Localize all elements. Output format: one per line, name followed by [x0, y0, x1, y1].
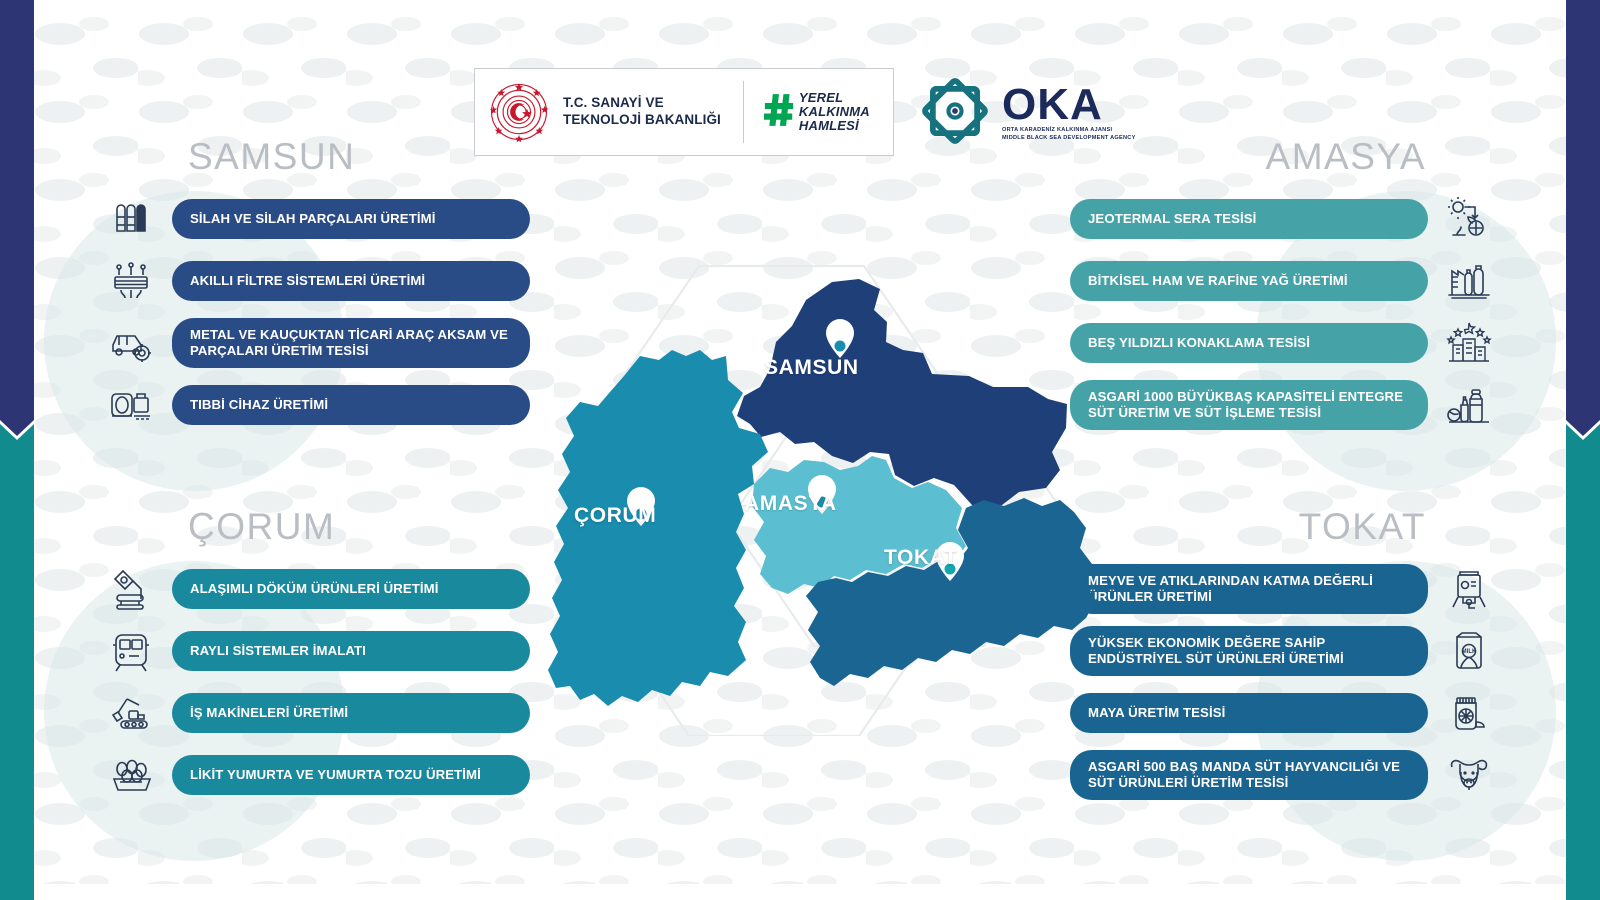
map-region-samsun	[737, 279, 1067, 505]
list-item[interactable]: RAYLI SİSTEMLER İMALATI	[100, 625, 530, 677]
column-amasya: AMASYA JEOTERMAL SER	[1070, 138, 1500, 431]
list-item[interactable]: TIBBİ CİHAZ ÜRETİMİ	[100, 379, 530, 431]
list-item[interactable]: MILK YÜKSEK EKONOMİK DEĞERE SAHİP ENDÜST…	[1070, 625, 1500, 677]
oil-refinery-icon	[1438, 255, 1500, 307]
item-label: SİLAH VE SİLAH PARÇALARI ÜRETİMİ	[172, 199, 530, 239]
milk-bag-icon: MILK	[1438, 625, 1500, 677]
left-edge-decoration	[0, 0, 34, 900]
column-corum: ÇORUM ALAŞIMLI DÖKÜM ÜRÜNLERİ ÜRETİ	[100, 508, 530, 801]
list-item[interactable]: BİTKİSEL HAM VE RAFİNE YAĞ ÜRETİMİ	[1070, 255, 1500, 307]
list-item[interactable]: BEŞ YILDIZLI KONAKLAMA TESİSİ	[1070, 317, 1500, 369]
list-item[interactable]: MEYVE VE ATIKLARINDAN KATMA DEĞERLİ ÜRÜN…	[1070, 563, 1500, 615]
item-label: LİKİT YUMURTA VE YUMURTA TOZU ÜRETİMİ	[172, 755, 530, 795]
list-item[interactable]: SİLAH VE SİLAH PARÇALARI ÜRETİMİ	[100, 193, 530, 245]
list-item[interactable]: ASGARİ 1000 BÜYÜKBAŞ KAPASİTELİ ENTEGRE …	[1070, 379, 1500, 431]
geothermal-greenhouse-icon	[1438, 193, 1500, 245]
list-item[interactable]: LİKİT YUMURTA VE YUMURTA TOZU ÜRETİMİ	[100, 749, 530, 801]
ammunition-icon	[100, 193, 162, 245]
region-map: SAMSUN ÇORUM AMASYA TOKAT	[514, 256, 1134, 736]
five-star-hotel-icon	[1438, 317, 1500, 369]
city-title-corum: ÇORUM	[100, 508, 530, 545]
foundry-casting-icon	[100, 563, 162, 615]
city-title-samsun: SAMSUN	[100, 138, 530, 175]
column-tokat: TOKAT	[1070, 508, 1500, 801]
item-label: ASGARİ 500 BAŞ MANDA SÜT HAYVANCILIĞI VE…	[1070, 750, 1428, 800]
header-logo-bar: T.C. SANAYİ VE TEKNOLOJİ BAKANLIĞI YEREL…	[474, 68, 894, 156]
campaign-logo: YEREL KALKINMA HAMLESİ	[764, 91, 870, 133]
item-label: TIBBİ CİHAZ ÜRETİMİ	[172, 385, 530, 425]
item-label: METAL VE KAUÇUKTAN TİCARİ ARAÇ AKSAM VE …	[172, 318, 530, 368]
list-item[interactable]: MAYA ÜRETİM TESİSİ	[1070, 687, 1500, 739]
item-label: RAYLI SİSTEMLER İMALATI	[172, 631, 530, 671]
buffalo-icon	[1438, 749, 1500, 801]
city-title-amasya: AMASYA	[1070, 138, 1500, 175]
column-samsun: SAMSUN SİLAH VE SİLAH PARÇALARI ÜRETİMİ	[100, 138, 530, 431]
item-label: JEOTERMAL SERA TESİSİ	[1070, 199, 1428, 239]
hashtag-icon	[764, 92, 794, 133]
item-label: AKILLI FİLTRE SİSTEMLERİ ÜRETİMİ	[172, 261, 530, 301]
oka-letters: OKA	[1002, 80, 1103, 129]
map-label-corum: ÇORUM	[574, 504, 656, 528]
item-label: İŞ MAKİNELERİ ÜRETİMİ	[172, 693, 530, 733]
list-item[interactable]: JEOTERMAL SERA TESİSİ	[1070, 193, 1500, 245]
excavator-icon	[100, 687, 162, 739]
list-item[interactable]: ALAŞIMLI DÖKÜM ÜRÜNLERİ ÜRETİMİ	[100, 563, 530, 615]
city-title-tokat: TOKAT	[1070, 508, 1500, 545]
logo-divider	[743, 81, 744, 143]
map-label-tokat: TOKAT	[884, 546, 957, 570]
svg-text:MILK: MILK	[1462, 649, 1477, 655]
eggs-basket-icon	[100, 749, 162, 801]
list-item[interactable]: İŞ MAKİNELERİ ÜRETİMİ	[100, 687, 530, 739]
turkish-ministry-emblem-icon	[475, 81, 563, 143]
content-canvas: T.C. SANAYİ VE TEKNOLOJİ BAKANLIĞI YEREL…	[34, 16, 1566, 884]
infographic-stage: T.C. SANAYİ VE TEKNOLOJİ BAKANLIĞI YEREL…	[0, 0, 1600, 900]
map-label-amasya: AMASYA	[744, 492, 837, 516]
oka-seljuk-star-icon	[914, 70, 996, 157]
car-gear-icon	[100, 317, 162, 369]
right-edge-decoration	[1566, 0, 1600, 900]
milk-churn-icon	[1438, 379, 1500, 431]
list-item[interactable]: AKILLI FİLTRE SİSTEMLERİ ÜRETİMİ	[100, 255, 530, 307]
smart-filter-icon	[100, 255, 162, 307]
list-item[interactable]: ASGARİ 500 BAŞ MANDA SÜT HAYVANCILIĞI VE…	[1070, 749, 1500, 801]
item-label: ALAŞIMLI DÖKÜM ÜRÜNLERİ ÜRETİMİ	[172, 569, 530, 609]
list-item[interactable]: METAL VE KAUÇUKTAN TİCARİ ARAÇ AKSAM VE …	[100, 317, 530, 369]
fermentation-tank-icon	[1438, 563, 1500, 615]
map-label-samsun: SAMSUN	[764, 356, 859, 380]
campaign-text: YEREL KALKINMA HAMLESİ	[799, 91, 870, 133]
ministry-name: T.C. SANAYİ VE TEKNOLOJİ BAKANLIĞI	[563, 95, 721, 129]
yeast-jar-icon	[1438, 687, 1500, 739]
map-region-corum	[548, 350, 768, 706]
train-icon	[100, 625, 162, 677]
medical-device-icon	[100, 379, 162, 431]
